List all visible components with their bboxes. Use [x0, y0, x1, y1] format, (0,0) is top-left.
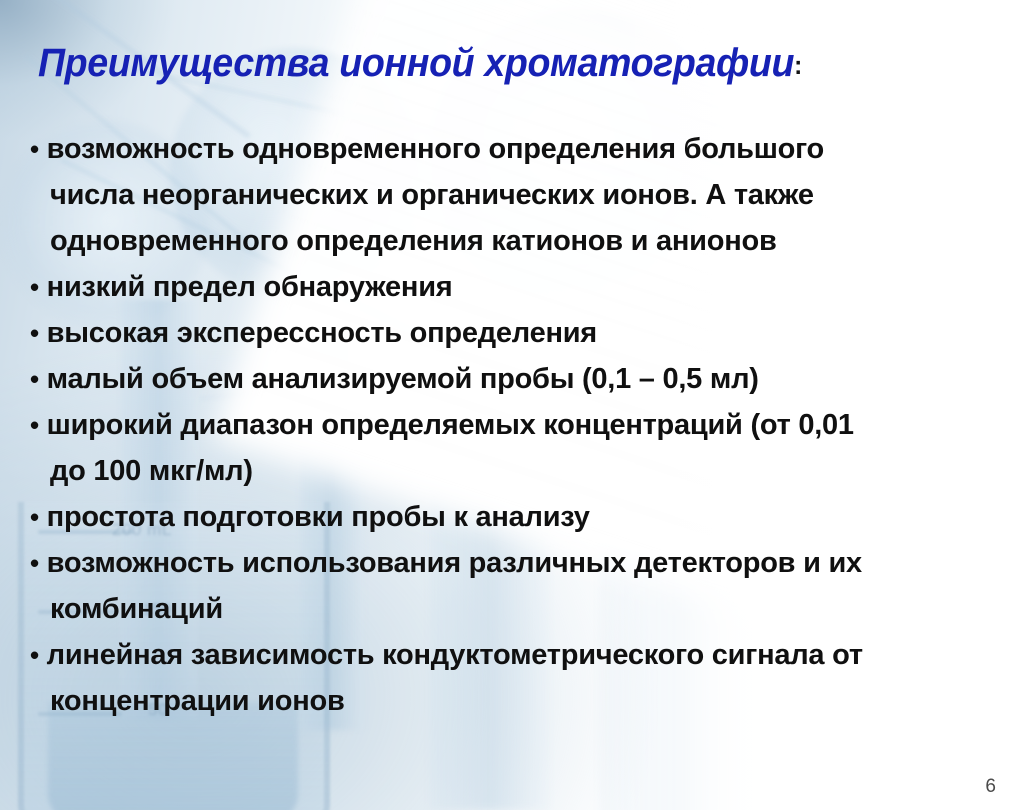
list-item: • возможность использования различных де… — [30, 540, 998, 632]
bullet-glyph: • — [30, 272, 39, 302]
list-item-text: линейная зависимость кондуктометрическог… — [47, 639, 863, 717]
list-item-text: высокая экспересcность определения — [47, 317, 597, 349]
list-item: • возможность одновременного определения… — [30, 126, 998, 264]
list-item-text: низкий предел обнаружения — [47, 271, 453, 303]
bullet-glyph: • — [30, 640, 39, 670]
list-item-text: возможность одновременного определения б… — [47, 133, 824, 257]
bullet-glyph: • — [30, 318, 39, 348]
list-item: • широкий диапазон определяемых концентр… — [30, 402, 998, 494]
bullet-glyph: • — [30, 134, 39, 164]
list-item-text: малый объем анализируемой пробы (0,1 – 0… — [47, 363, 759, 395]
bullet-list: • возможность одновременного определения… — [30, 126, 998, 724]
slide-title-colon: : — [794, 50, 802, 80]
page-number: 6 — [985, 776, 996, 798]
list-item-text: простота подготовки пробы к анализу — [47, 501, 590, 533]
slide-title-text: Преимущества ионной хроматографии — [38, 41, 794, 85]
bullet-glyph: • — [30, 410, 39, 440]
list-item: • низкий предел обнаружения — [30, 264, 998, 310]
list-item: • малый объем анализируемой пробы (0,1 –… — [30, 356, 998, 402]
slide-content: Преимущества ионной хроматографии: • воз… — [0, 0, 1024, 810]
bullet-glyph: • — [30, 548, 39, 578]
list-item: • простота подготовки пробы к анализу — [30, 494, 998, 540]
list-item-text: широкий диапазон определяемых концентрац… — [47, 409, 854, 487]
list-item: • линейная зависимость кондуктометрическ… — [30, 632, 998, 724]
bullet-glyph: • — [30, 502, 39, 532]
bullet-glyph: • — [30, 364, 39, 394]
slide-title: Преимущества ионной хроматографии: — [38, 42, 802, 84]
list-item: • высокая экспересcность определения — [30, 310, 998, 356]
list-item-text: возможность использования различных дете… — [47, 547, 862, 625]
presentation-slide: 200 mL 150 50 Преимущества ионной хромат… — [0, 0, 1024, 810]
